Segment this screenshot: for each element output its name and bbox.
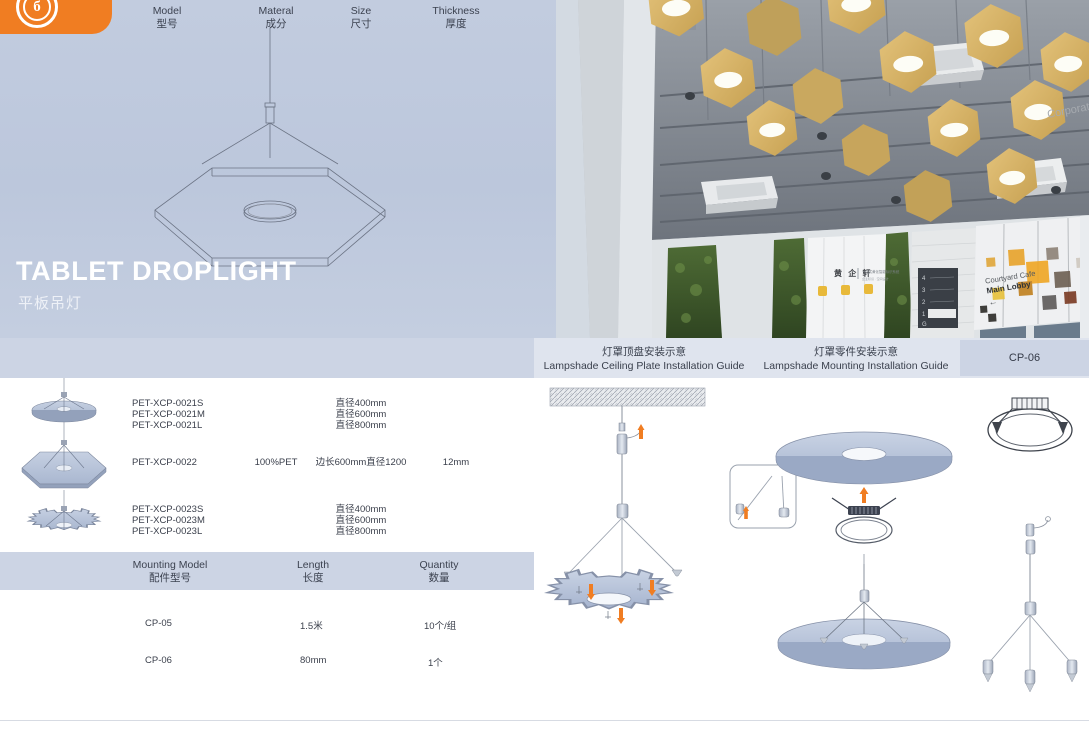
col-header-quantity: Quantity 数量 bbox=[408, 559, 470, 585]
installation-diagrams-area bbox=[534, 378, 1089, 698]
spec-model-0-0: PET-XCP-0021S bbox=[132, 398, 203, 410]
interior-installation-photo: 黄 企 轩 一站式黄化智能标识系统 企业标识 · 空间设计 bbox=[556, 0, 1089, 338]
col-header-mounting-model: Mounting Model 配件型号 bbox=[128, 559, 212, 585]
mounting-length-0: 1.5米 bbox=[300, 618, 323, 632]
spec-model-1-0: PET-XCP-0022 bbox=[132, 457, 197, 469]
page-subtitle: 平板吊灯 bbox=[18, 292, 82, 313]
diagram-ceiling-plate-installation bbox=[550, 388, 796, 588]
spec-size-0-0: 直径400mm bbox=[330, 398, 392, 410]
catalog-page: TABLET DROPLIGHT 平板吊灯 б bbox=[0, 0, 1089, 738]
product-thumbnail-column bbox=[0, 378, 128, 550]
logo-glyph: б bbox=[23, 0, 51, 21]
svg-text:G: G bbox=[922, 322, 927, 328]
spec-size-0-2: 直径800mm bbox=[330, 420, 392, 432]
svg-text:←: ← bbox=[988, 296, 998, 307]
svg-text:一站式黄化智能标识系统: 一站式黄化智能标识系统 bbox=[862, 269, 900, 274]
mounting-length-1: 80mm bbox=[300, 655, 326, 666]
spec-table-body: PET-XCP-0021S PET-XCP-0021M PET-XCP-0021… bbox=[0, 378, 556, 550]
diagram-gear-lampshade-mounting bbox=[547, 570, 671, 624]
guide-label-mounting: 灯罩零件安装示意 Lampshade Mounting Installation… bbox=[752, 345, 960, 373]
mounting-quantity-1: 1个 bbox=[428, 655, 443, 669]
page-title: TABLET DROPLIGHT bbox=[16, 258, 297, 285]
guide-label-ceiling-plate: 灯罩顶盘安装示意 Lampshade Ceiling Plate Install… bbox=[540, 345, 748, 373]
svg-text:企业标识 · 空间设计: 企业标识 · 空间设计 bbox=[862, 276, 889, 281]
orange-arrow-up-1 bbox=[638, 424, 645, 439]
spec-material-1: 100%PET bbox=[236, 457, 316, 469]
col-header-length: Length 长度 bbox=[282, 559, 344, 585]
orange-arrow-up-3 bbox=[860, 487, 869, 503]
spec-size-2-2: 直径800mm bbox=[330, 526, 392, 538]
spec-size-2-0: 直径400mm bbox=[330, 504, 392, 516]
diagram-pendant-assembly bbox=[778, 564, 950, 669]
thumb-round-disc bbox=[32, 378, 96, 422]
spec-model-2-1: PET-XCP-0023M bbox=[132, 515, 205, 527]
diagram-recessed-downlight bbox=[988, 398, 1072, 451]
spec-model-2-0: PET-XCP-0023S bbox=[132, 504, 203, 516]
part-tag-cp06: CP-06 bbox=[960, 340, 1089, 376]
mounting-model-1: CP-06 bbox=[145, 655, 172, 666]
col-header-model: Model 型号 bbox=[128, 5, 206, 31]
diagram-suspension-wire-kit bbox=[983, 517, 1077, 692]
thumb-hexagon-plate bbox=[22, 422, 106, 488]
spec-size-1-0: 边长600mm直径1200 bbox=[306, 457, 416, 469]
mounting-model-0: CP-05 bbox=[145, 618, 172, 629]
mounting-table-body: CP-05 1.5米 10个/组 CP-06 80mm 1个 bbox=[0, 590, 556, 690]
spec-model-2-2: PET-XCP-0023L bbox=[132, 526, 202, 538]
spec-model-0-1: PET-XCP-0021M bbox=[132, 409, 205, 421]
spec-size-2-1: 直径600mm bbox=[330, 515, 392, 527]
mounting-quantity-0: 10个/组 bbox=[424, 618, 456, 632]
logo-circle-icon: б bbox=[16, 0, 58, 28]
spec-model-0-2: PET-XCP-0021L bbox=[132, 420, 202, 432]
footer-area bbox=[0, 721, 1089, 738]
spec-size-0-1: 直径600mm bbox=[330, 409, 392, 421]
thumb-gear-flower bbox=[28, 490, 100, 530]
col-header-thickness: Thickness 厚度 bbox=[414, 5, 498, 31]
hero-section: TABLET DROPLIGHT 平板吊灯 б bbox=[0, 0, 1089, 338]
brand-logo-badge[interactable]: б bbox=[0, 0, 112, 34]
col-header-material: Materal 成分 bbox=[236, 5, 316, 31]
col-header-size: Size 尺寸 bbox=[330, 5, 392, 31]
spec-thickness-1: 12mm bbox=[414, 457, 498, 469]
